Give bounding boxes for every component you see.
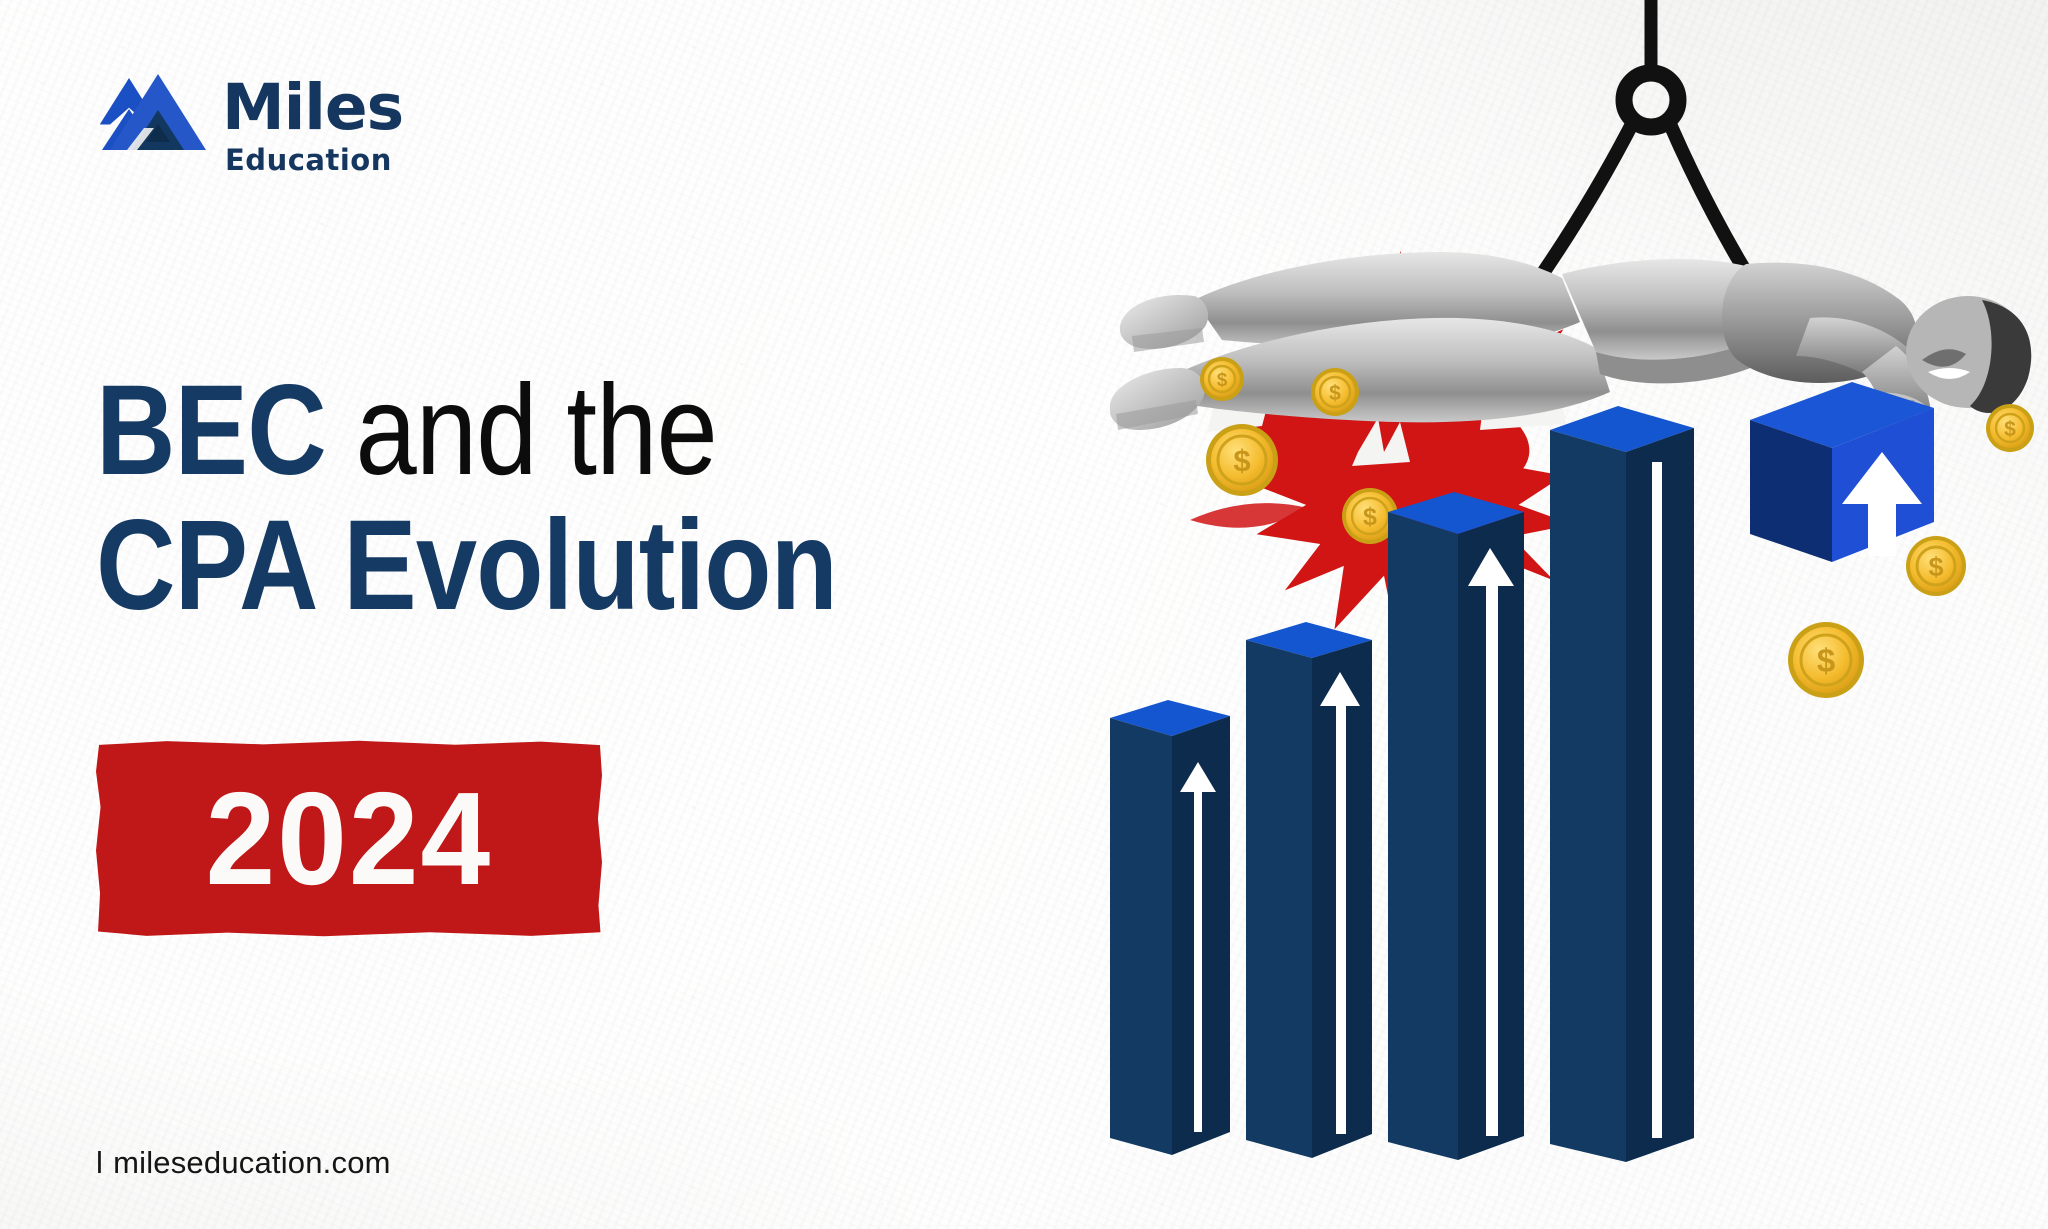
svg-text:$: $ (1817, 642, 1835, 679)
footer-separator: l (96, 1145, 103, 1180)
chart-bar-2 (1246, 622, 1372, 1158)
footer-website-label: mileseducation.com (113, 1145, 391, 1180)
svg-text:$: $ (1363, 503, 1377, 531)
headline-line-2: CPA Evolution (96, 503, 837, 628)
chart-bar-3 (1388, 492, 1524, 1160)
chart-bar-4 (1550, 406, 1694, 1162)
chart-bar-1 (1110, 700, 1230, 1155)
headline-line-1: BEC and the (96, 368, 837, 493)
hero-artwork: $ $ $ $ (1110, 0, 2048, 1229)
year-badge: 2024 (96, 740, 602, 937)
blue-cube-with-up-arrow (1750, 382, 1934, 562)
brand-name-secondary: Education (222, 146, 403, 175)
year-badge-label: 2024 (206, 773, 493, 905)
brand-name-primary: Miles (222, 76, 403, 139)
svg-text:$: $ (1329, 382, 1341, 405)
chart-bar-4-arrow (1652, 462, 1662, 1138)
headline-cpa-evolution: CPA Evolution (96, 494, 837, 637)
mountain-icon (96, 62, 208, 162)
artwork-svg: $ $ $ $ (1110, 0, 2048, 1229)
svg-text:$: $ (1217, 370, 1228, 391)
svg-text:$: $ (1928, 552, 1943, 582)
brand-logo[interactable]: Miles Education (96, 62, 403, 175)
footer-website[interactable]: lmileseducation.com (96, 1145, 391, 1181)
svg-text:$: $ (1233, 443, 1250, 478)
headline-rest: and the (326, 359, 717, 502)
page-title: BEC and the CPA Evolution (96, 368, 958, 629)
poster-canvas: Miles Education BEC and the CPA Evolutio… (0, 0, 2048, 1229)
headline-highlight-bec: BEC (96, 359, 326, 502)
brand-wordmark: Miles Education (222, 62, 403, 175)
svg-text:$: $ (2004, 418, 2016, 441)
